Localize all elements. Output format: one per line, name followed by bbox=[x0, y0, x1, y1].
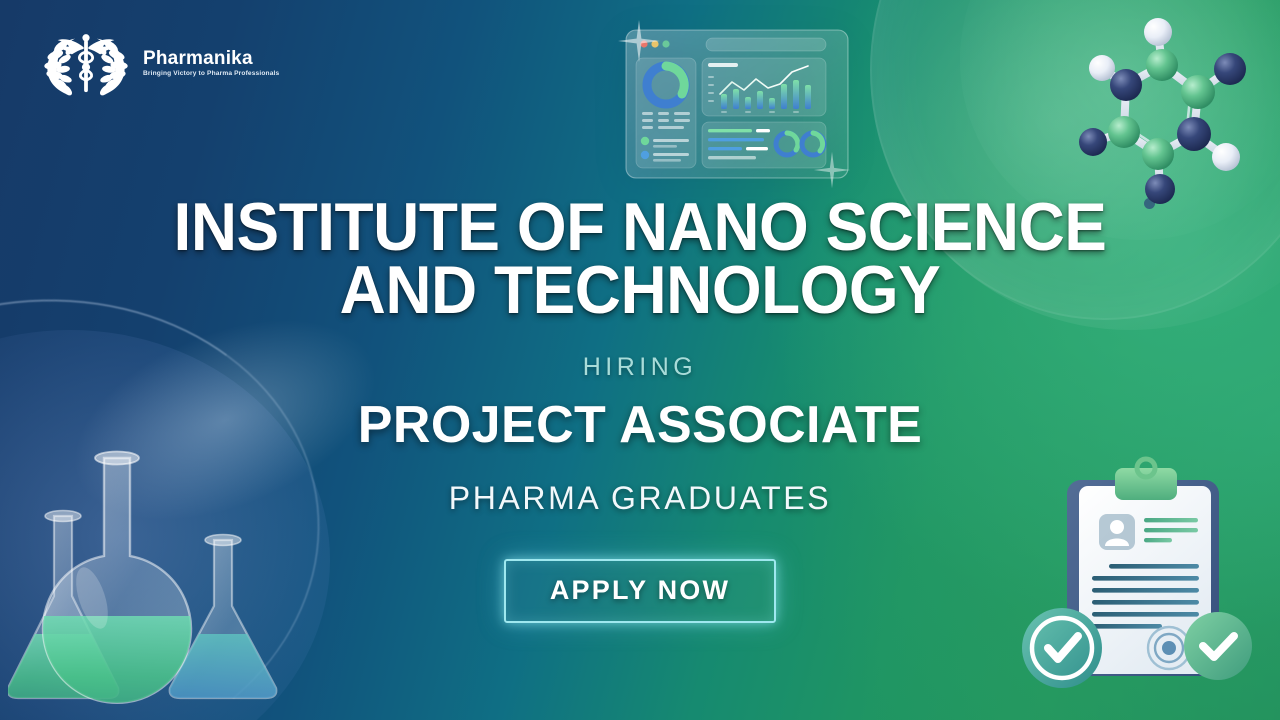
hiring-label: HIRING bbox=[583, 353, 698, 382]
laboratory-flasks-illustration bbox=[8, 420, 318, 720]
brand-tagline: Bringing Victory to Pharma Professionals bbox=[143, 71, 279, 78]
eligibility-text: PHARMA GRADUATES bbox=[449, 480, 831, 517]
page-title: INSTITUTE OF NANO SCIENCE AND TECHNOLOGY bbox=[142, 196, 1138, 321]
analytics-dashboard-illustration bbox=[620, 22, 855, 187]
resume-clipboard-illustration bbox=[1017, 456, 1262, 694]
apply-now-button[interactable]: APPLY NOW bbox=[504, 559, 776, 623]
caduceus-laurel-wreath-icon bbox=[38, 26, 134, 100]
brand-wordmark: Pharmanika Bringing Victory to Pharma Pr… bbox=[143, 49, 279, 78]
brand-logo[interactable]: Pharmanika Bringing Victory to Pharma Pr… bbox=[38, 26, 279, 100]
molecule-ball-and-stick-illustration bbox=[1062, 8, 1262, 213]
org-title-line-2: AND TECHNOLOGY bbox=[142, 259, 1138, 322]
brand-name: Pharmanika bbox=[143, 49, 279, 68]
recruitment-banner: Pharmanika Bringing Victory to Pharma Pr… bbox=[0, 0, 1280, 720]
role-title: PROJECT ASSOCIATE bbox=[358, 395, 922, 455]
